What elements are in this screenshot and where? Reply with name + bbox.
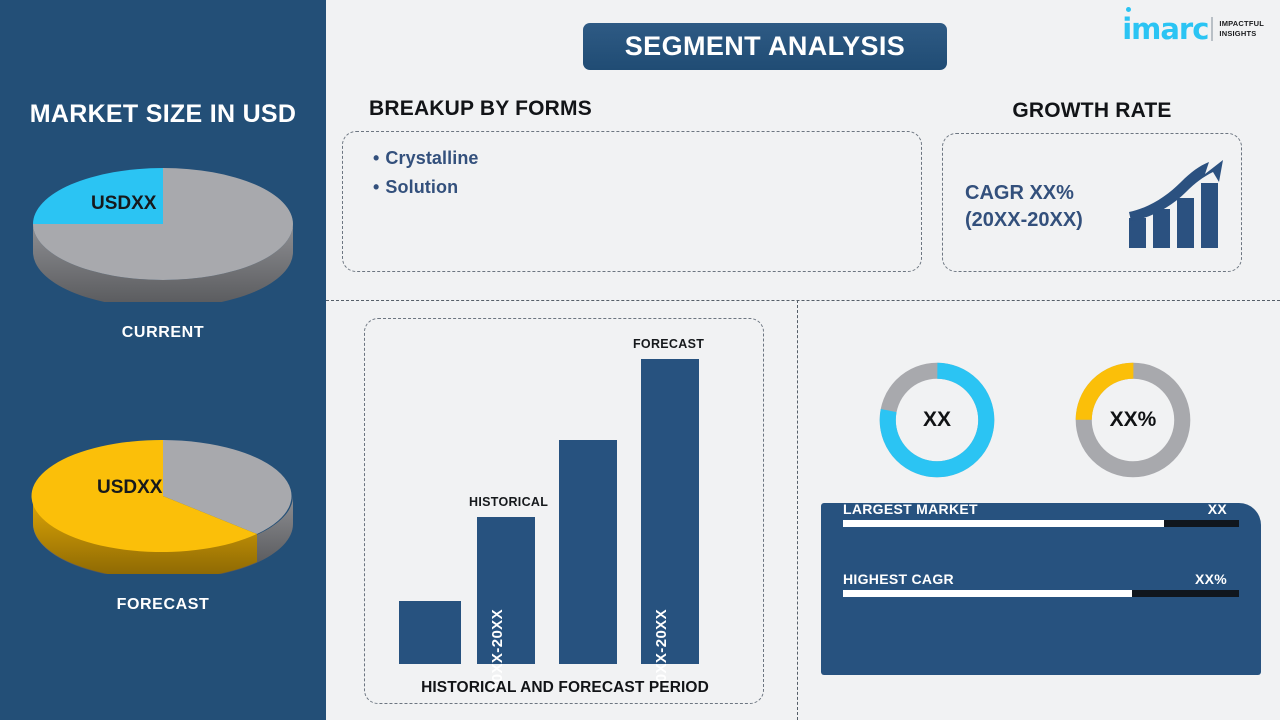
market-share-donut: XX	[872, 355, 1002, 485]
current-pie-chart: USDXX	[29, 160, 297, 302]
bar-chart-axis-label: HISTORICAL AND FORECAST PERIOD	[365, 679, 765, 697]
breakup-by-forms-card: •Crystalline •Solution	[342, 131, 922, 272]
current-pie-svg	[29, 160, 297, 302]
stat-value: XX%	[1195, 571, 1227, 587]
cagr-value: CAGR XX%	[965, 180, 1083, 207]
page-title-text: SEGMENT ANALYSIS	[625, 31, 905, 62]
page-title: SEGMENT ANALYSIS	[583, 23, 947, 70]
historical-annotation: HISTORICAL	[469, 495, 548, 509]
stat-progress-track	[843, 590, 1239, 597]
bar-3: 20XX-20XX	[641, 359, 699, 664]
stat-label: HIGHEST CAGR	[843, 571, 954, 587]
list-item: •Solution	[373, 173, 479, 202]
historical-forecast-bar-chart: 20XX-20XX HISTORICAL 20XX-20XX FORECAST …	[364, 318, 764, 704]
key-stats-panel: LARGEST MARKET XX HIGHEST CAGR XX%	[821, 503, 1261, 675]
list-item: •Crystalline	[373, 144, 479, 173]
imarc-logo-tagline: IMPACTFUL INSIGHTS	[1219, 19, 1264, 39]
market-size-sidebar: MARKET SIZE IN USD USDXX CURRENT	[0, 0, 326, 720]
sidebar-title: MARKET SIZE IN USD	[0, 100, 326, 129]
forecast-pie-block: USDXX FORECAST	[0, 432, 326, 614]
main-panel: SEGMENT ANALYSIS imarc IMPACTFUL INSIGHT…	[326, 0, 1280, 720]
market-share-donut-value: XX	[872, 355, 1002, 485]
form-item-label: Crystalline	[385, 148, 478, 168]
bar-0	[399, 601, 461, 664]
cagr-donut-value: XX%	[1068, 355, 1198, 485]
bar-1: 20XX-20XX	[477, 517, 535, 664]
current-pie-block: USDXX CURRENT	[0, 160, 326, 342]
bar-chart-plot-area: 20XX-20XX HISTORICAL 20XX-20XX FORECAST …	[365, 319, 765, 705]
stat-progress-fill	[843, 520, 1164, 527]
cagr-period: (20XX-20XX)	[965, 207, 1083, 234]
logo-divider	[1211, 17, 1213, 41]
horizontal-divider	[326, 300, 1280, 301]
forecast-annotation: FORECAST	[633, 337, 704, 351]
bullet-icon: •	[373, 148, 379, 168]
forecast-pie-caption: FORECAST	[0, 596, 326, 614]
growth-rate-card: CAGR XX% (20XX-20XX)	[942, 133, 1242, 272]
breakup-by-forms-heading: BREAKUP BY FORMS	[369, 97, 592, 121]
growth-rate-heading: GROWTH RATE	[942, 99, 1242, 123]
growth-arrow-bar-icon	[1127, 158, 1227, 255]
form-item-label: Solution	[385, 177, 458, 197]
cagr-donut: XX%	[1068, 355, 1198, 485]
imarc-logo-text: imarc	[1122, 15, 1208, 44]
stat-value: XX	[1208, 501, 1227, 517]
forecast-pie-chart: USDXX	[29, 432, 297, 574]
bar-2	[559, 440, 617, 664]
forecast-pie-svg	[29, 432, 297, 574]
stat-label: LARGEST MARKET	[843, 501, 978, 517]
vertical-divider	[797, 300, 798, 720]
stat-progress-track	[843, 520, 1239, 527]
logo-tagline-line2: INSIGHTS	[1219, 29, 1264, 39]
imarc-logo-mark: imarc	[1122, 15, 1208, 44]
logo-tagline-line1: IMPACTFUL	[1219, 19, 1264, 29]
stat-progress-fill	[843, 590, 1132, 597]
logo-dot-icon	[1126, 7, 1131, 12]
imarc-logo: imarc IMPACTFUL INSIGHTS	[1122, 12, 1264, 46]
forms-list: •Crystalline •Solution	[373, 144, 479, 202]
cagr-text: CAGR XX% (20XX-20XX)	[965, 180, 1083, 234]
bullet-icon: •	[373, 177, 379, 197]
current-pie-caption: CURRENT	[0, 324, 326, 342]
